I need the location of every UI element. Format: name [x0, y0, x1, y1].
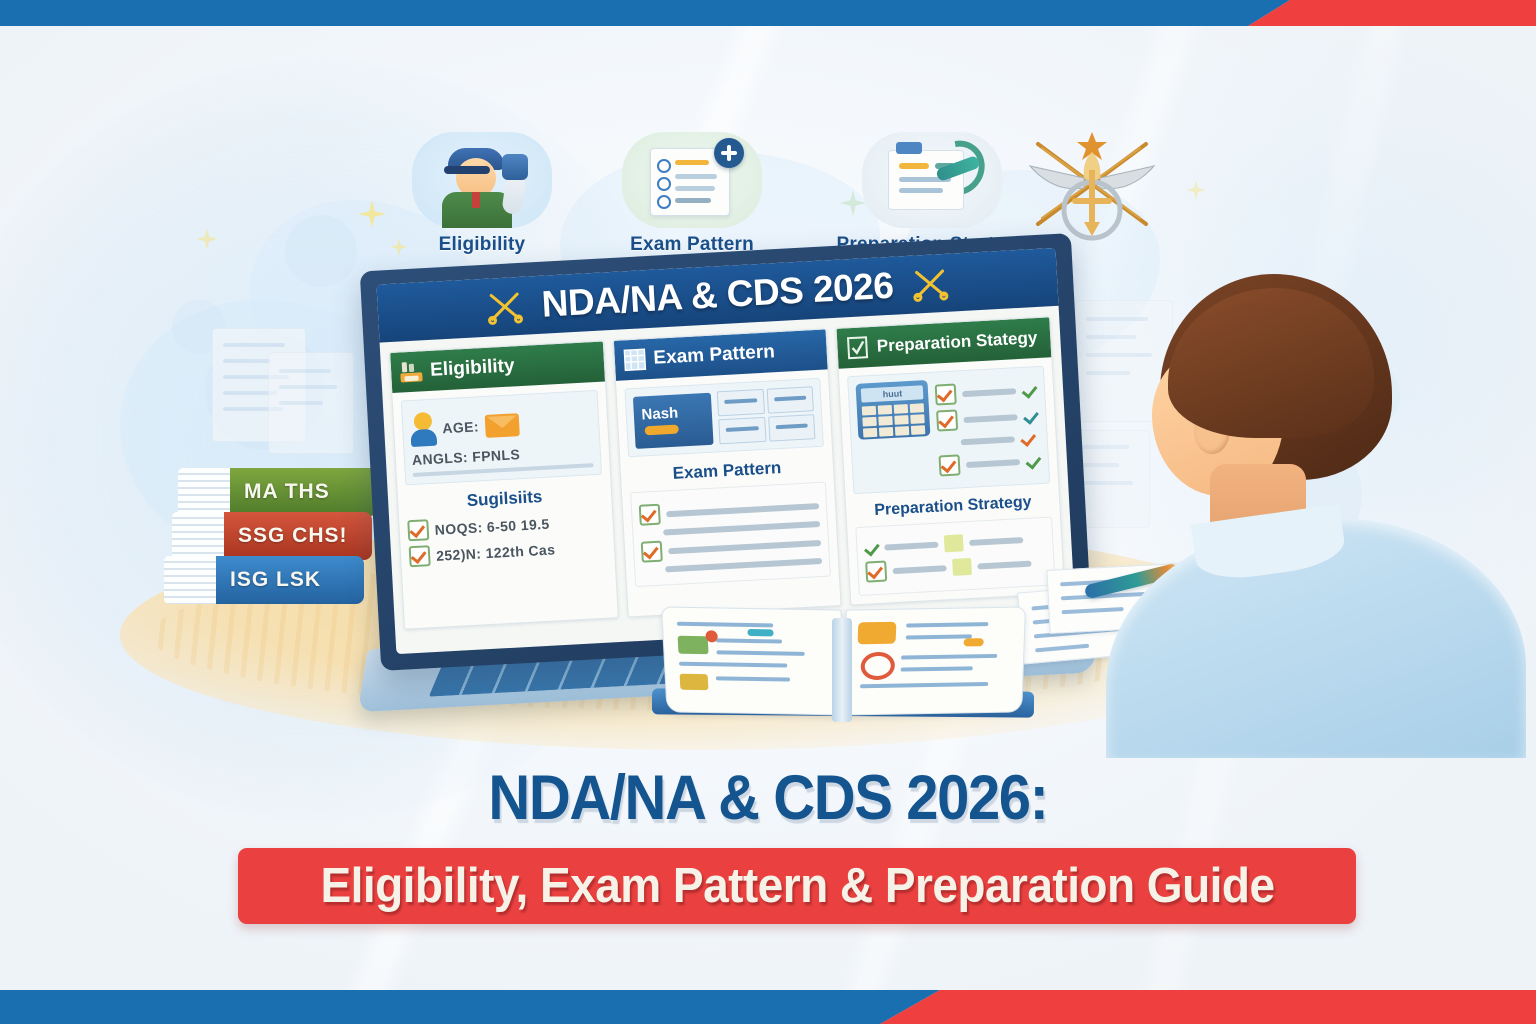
poster-canvas: Eligibility Exam Pattern [0, 0, 1536, 1024]
calculator-display: huut [861, 385, 924, 402]
tick-icon [1026, 454, 1041, 469]
strategy-panel: huut [847, 366, 1050, 494]
avatar-icon [409, 412, 437, 447]
check-icon [407, 519, 429, 541]
eligibility-panel: AGE: ANGLS: FPNLS [401, 390, 602, 486]
feature-exam-pattern[interactable]: Exam Pattern [622, 132, 762, 256]
grid-icon [623, 348, 646, 371]
decor-blob [285, 215, 357, 287]
book-item: ISG LSK [164, 556, 364, 604]
card-subheading: Exam Pattern [628, 456, 825, 487]
book-title: ISG LSK [216, 556, 364, 604]
book-title: MA THS [230, 468, 378, 516]
top-banner [0, 0, 1536, 26]
tick-icon [1022, 383, 1037, 398]
bottom-banner-blue [0, 990, 940, 1024]
card-subheading: Sugilsiits [406, 484, 603, 515]
book-page-left [661, 606, 847, 715]
strategy-row [939, 450, 1042, 476]
crossed-swords-icon [910, 265, 950, 303]
card-body: AGE: ANGLS: FPNLS Sugilsiits [392, 381, 615, 580]
open-textbook [664, 608, 1024, 728]
check-icon [939, 454, 961, 476]
top-banner-red [1248, 0, 1536, 26]
screen-cards: Eligibility AGE: ANGLS: FPNLS [380, 306, 1075, 640]
card-header-label: Exam Pattern [653, 342, 775, 368]
eligibility-row: AGE: [409, 403, 591, 447]
checklist-row [638, 495, 820, 526]
top-banner-blue [0, 0, 1290, 26]
check-icon [935, 383, 957, 405]
check-text: 252)N: 122th Cas [436, 541, 556, 563]
book-spine [832, 618, 852, 722]
book-pages [178, 468, 230, 516]
check-icon [865, 560, 887, 582]
tick-icon [1021, 431, 1036, 446]
exam-checklist [630, 482, 832, 587]
calculator-icon: huut [856, 380, 931, 440]
checklist-row [640, 532, 822, 563]
book-stack: MA THS SSG CHS! ISG LSK [178, 468, 388, 648]
document-checklist-icon [622, 132, 762, 228]
check-icon [936, 409, 958, 431]
check-icon [640, 541, 662, 563]
ghost-paper [268, 352, 354, 454]
row-text: AGE: [442, 418, 479, 436]
card-body: Nash Exam Pattern [616, 369, 840, 595]
color-swatch [944, 534, 964, 552]
strategy-row [938, 431, 1040, 450]
strategy-row [935, 379, 1038, 405]
book-page-right [842, 606, 1026, 715]
check-text: NOQS: 6-50 19.5 [434, 515, 550, 537]
laptop-lid: NDA/NA & CDS 2026 [360, 233, 1093, 671]
exam-panel: Nash [624, 378, 824, 458]
book-pages [172, 512, 224, 560]
card-subheading: Preparation Strategy [854, 493, 1051, 522]
book-pages [164, 556, 216, 604]
card-header-label: Preparation Stategy [876, 329, 1037, 356]
book-label: Nash [641, 404, 679, 423]
podium-icon [400, 359, 423, 384]
book-item: MA THS [178, 468, 378, 516]
subtitle-banner: Eligibility, Exam Pattern & Preparation … [238, 848, 1356, 924]
book-item: SSG CHS! [172, 512, 372, 560]
check-icon [409, 545, 431, 567]
strategy-row [936, 405, 1039, 431]
card-exam-pattern[interactable]: Exam Pattern Nash [612, 328, 841, 617]
feature-eligibility[interactable]: Eligibility [412, 132, 552, 256]
tick-icon [864, 540, 879, 555]
color-swatch [952, 558, 972, 576]
officer-icon [412, 132, 552, 228]
bottom-banner [0, 990, 1536, 1024]
book-title: SSG CHS! [224, 512, 372, 560]
check-icon [638, 504, 660, 526]
book-icon: Nash [633, 392, 714, 448]
row-text: ANGLS: FPNLS [412, 446, 521, 468]
eligibility-check: 252)N: 122th Cas [409, 536, 607, 568]
tri-services-emblem [1012, 118, 1172, 250]
envelope-icon [484, 413, 519, 438]
card-header-label: Eligibility [430, 356, 515, 380]
laptop-screen: NDA/NA & CDS 2026 [376, 248, 1075, 654]
plus-badge-icon [714, 138, 744, 168]
checkbox-icon [846, 335, 869, 360]
subtitle-text: Eligibility, Exam Pattern & Preparation … [320, 858, 1274, 914]
student-figure [1098, 268, 1536, 748]
note-pen-icon [862, 132, 1002, 228]
crossed-swords-icon [485, 288, 525, 326]
card-eligibility[interactable]: Eligibility AGE: ANGLS: FPNLS [389, 340, 618, 629]
page-title: NDA/NA & CDS 2026: [61, 762, 1474, 834]
pattern-grid [716, 386, 815, 444]
bottom-banner-red [880, 990, 1536, 1024]
tick-icon [1023, 409, 1038, 424]
